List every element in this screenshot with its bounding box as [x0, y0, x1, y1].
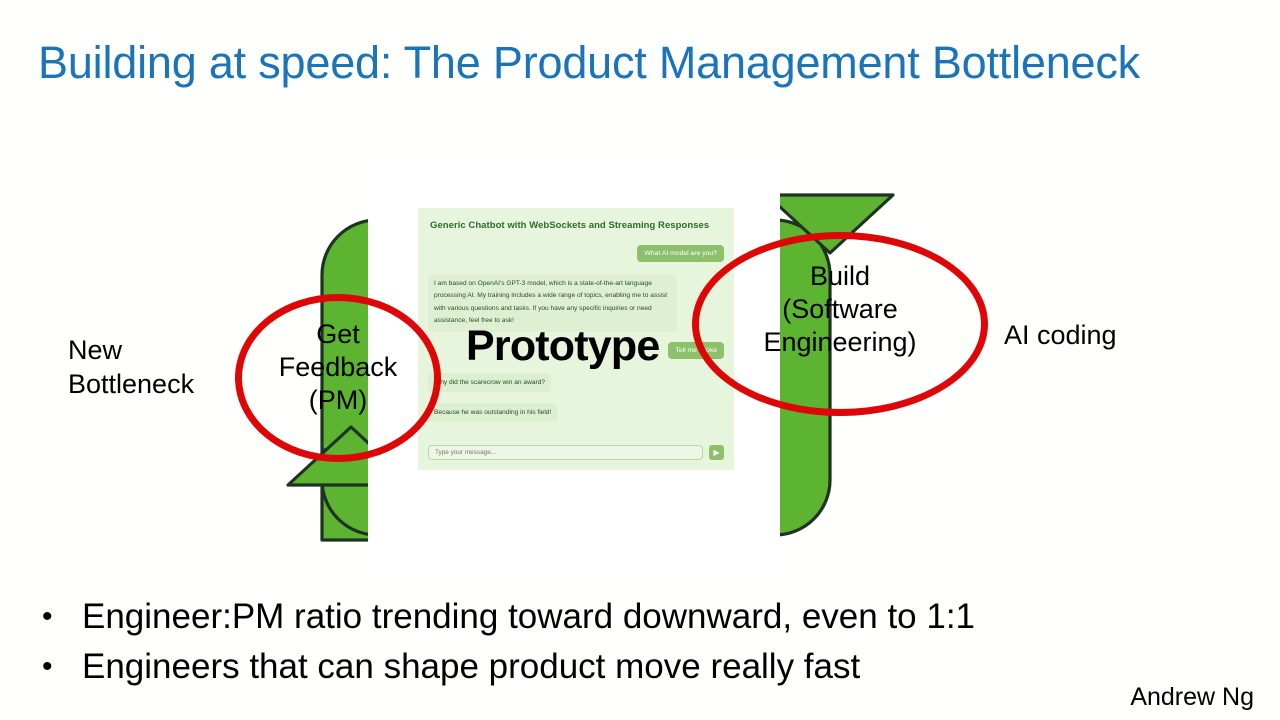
- message-input[interactable]: [428, 445, 703, 460]
- bullet-list: • Engineer:PM ratio trending toward down…: [42, 592, 1242, 692]
- page-title: Building at speed: The Product Managemen…: [38, 36, 1248, 90]
- cycle-diagram: Generic Chatbot with WebSockets and Stre…: [0, 100, 1280, 580]
- node-label-build: Build (Software Engineering): [694, 260, 986, 359]
- callout-new-bottleneck: New Bottleneck: [68, 333, 238, 401]
- node-line: (Software: [694, 293, 986, 326]
- callout-line: Bottleneck: [68, 367, 238, 401]
- bullet-marker: •: [42, 592, 82, 642]
- callout-ai-coding: AI coding: [1004, 318, 1234, 352]
- bullet-marker: •: [42, 642, 82, 692]
- node-line: Engineering): [694, 326, 986, 359]
- node-line: Feedback: [236, 351, 440, 384]
- chat-bubble-assistant: Because he was outstanding in his field!: [428, 403, 557, 422]
- chat-row-user-1: What AI model are you?: [428, 245, 724, 262]
- node-line: Build: [694, 260, 986, 293]
- node-line: Get: [236, 318, 440, 351]
- node-label-get-feedback: Get Feedback (PM): [236, 318, 440, 417]
- send-arrow-icon[interactable]: ▶: [709, 445, 724, 460]
- chat-composer: ▶: [428, 445, 724, 460]
- attribution-label: Andrew Ng: [1130, 682, 1254, 712]
- node-line: (PM): [236, 384, 440, 417]
- prototype-overlay-label: Prototype: [466, 322, 659, 371]
- chatbot-app-heading: Generic Chatbot with WebSockets and Stre…: [430, 220, 722, 231]
- chat-bubble-assistant: Why did the scarecrow win an award?: [428, 373, 551, 392]
- slide-canvas: Building at speed: The Product Managemen…: [0, 0, 1280, 720]
- callout-line: New: [68, 333, 238, 367]
- list-item: • Engineer:PM ratio trending toward down…: [42, 592, 1242, 642]
- bullet-text: Engineer:PM ratio trending toward downwa…: [82, 592, 1242, 642]
- callout-line: AI coding: [1004, 318, 1234, 352]
- list-item: • Engineers that can shape product move …: [42, 642, 1242, 692]
- bullet-text: Engineers that can shape product move re…: [82, 642, 1242, 692]
